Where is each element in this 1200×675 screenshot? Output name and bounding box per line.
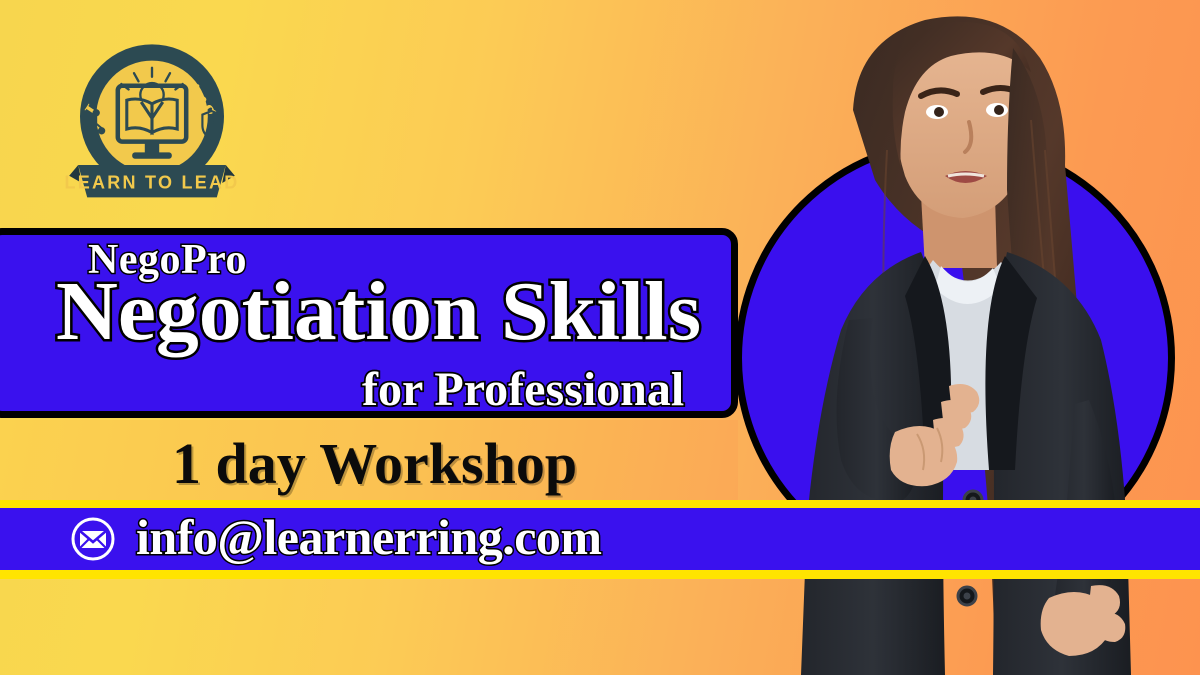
envelope-icon — [70, 516, 116, 562]
banner-headline: Negotiation Skills — [56, 272, 701, 352]
promo-poster: LearneRRing — [0, 0, 1200, 675]
brand-logo: LearneRRing — [62, 30, 242, 210]
email-bar-top-stripe — [0, 500, 1200, 508]
email-bar-bottom-stripe — [0, 570, 1200, 579]
banner-subhead: for Professional — [362, 362, 684, 417]
workshop-duration-text: 1 day Workshop — [172, 430, 577, 497]
logo-tagline: LEARN TO LEAD — [65, 172, 240, 192]
contact-email[interactable]: info@learnerring.com — [136, 508, 602, 566]
open-book-icon — [127, 99, 177, 133]
